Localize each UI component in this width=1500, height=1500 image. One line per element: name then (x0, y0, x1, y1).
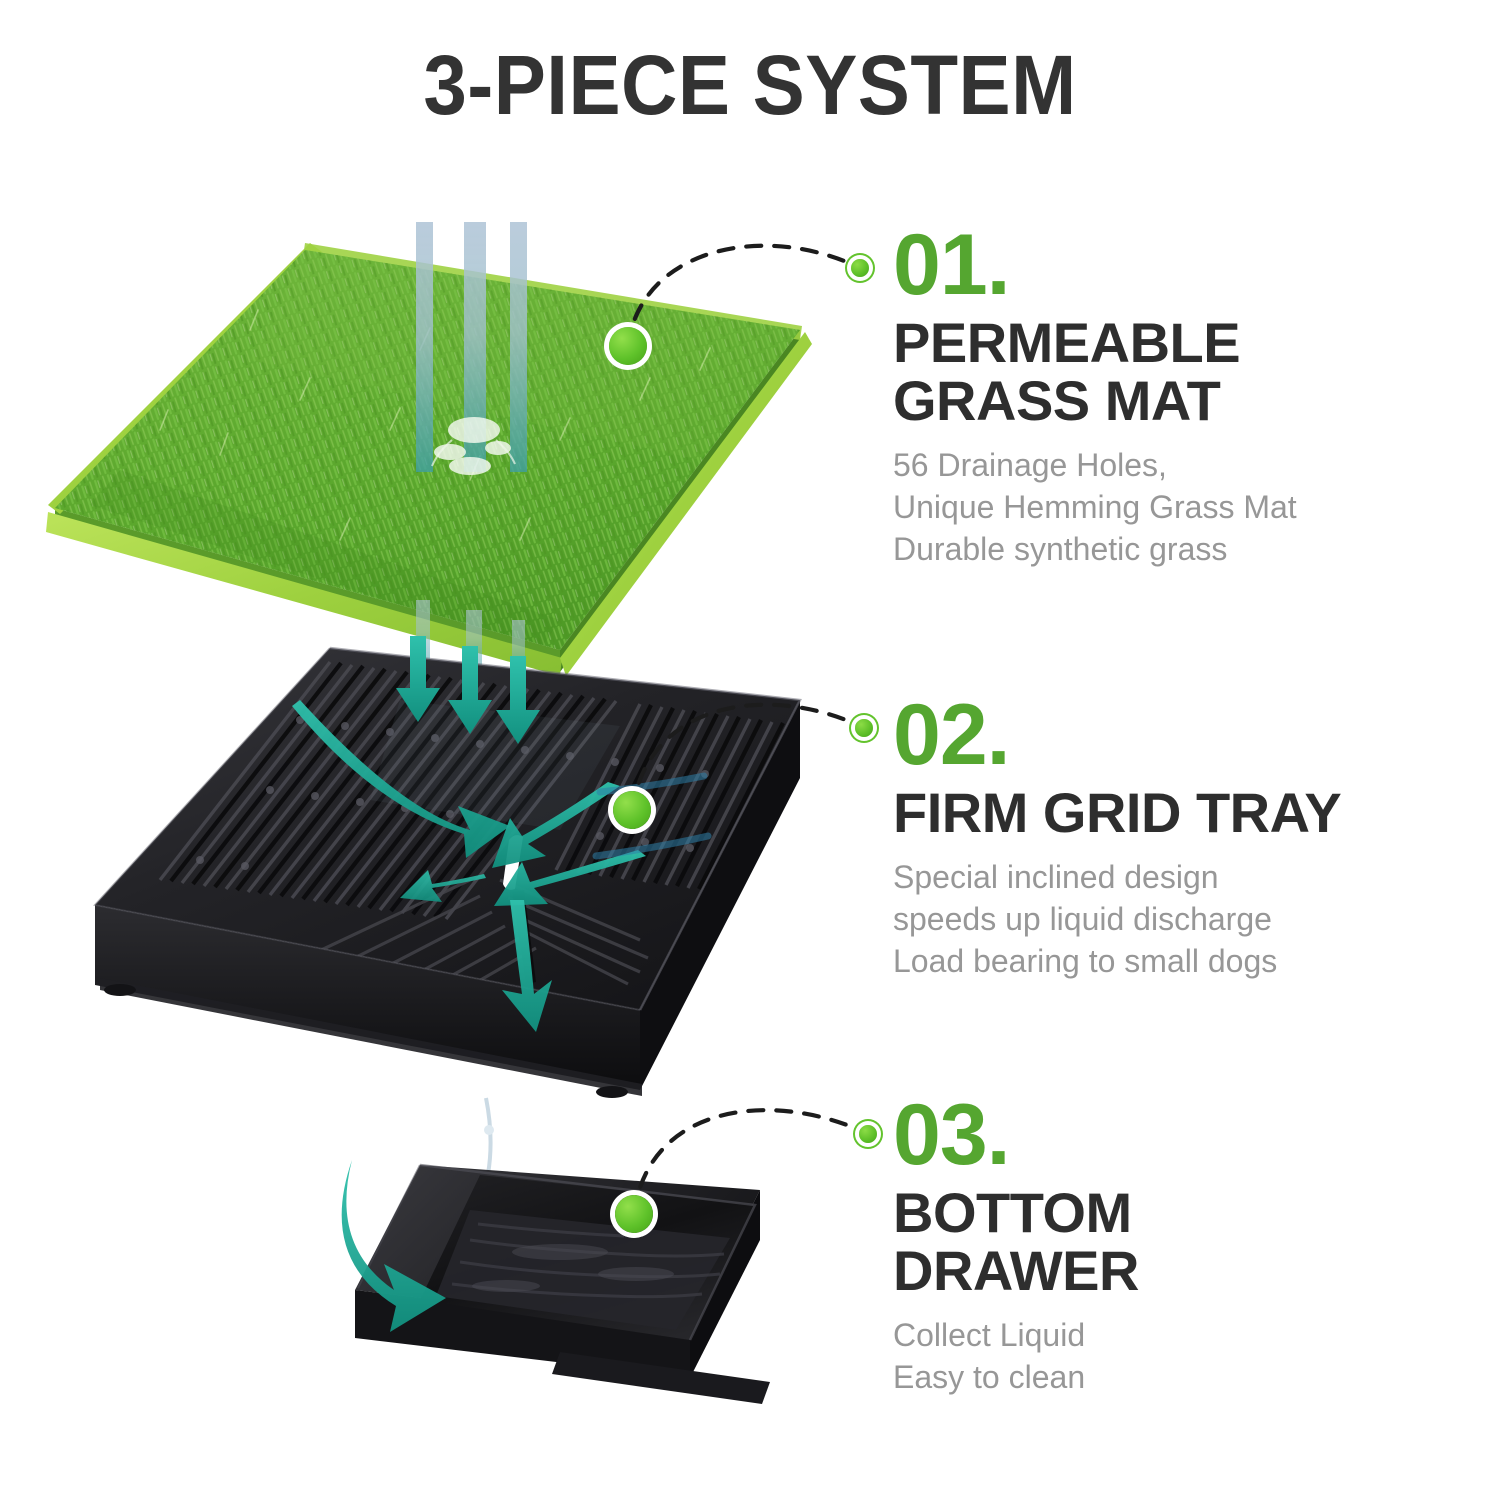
feature-desc-03-line1: Collect Liquid (893, 1314, 1468, 1356)
feature-description-03: Collect Liquid Easy to clean (893, 1314, 1468, 1398)
feature-number-02: 02. (893, 692, 1468, 778)
feature-block-02: 02. FIRM GRID TRAY Special inclined desi… (893, 692, 1468, 982)
feature-description-01: 56 Drainage Holes, Unique Hemming Grass … (893, 444, 1468, 570)
feature-block-03: 03. BOTTOM DRAWER Collect Liquid Easy to… (893, 1092, 1468, 1398)
callout-dot-product-03 (615, 1195, 653, 1233)
bottom-drawer-group (355, 1165, 770, 1404)
feature-heading-01-line2: GRASS MAT (893, 372, 1468, 430)
feature-desc-03-line2: Easy to clean (893, 1356, 1468, 1398)
leader-lines (628, 246, 864, 1214)
feature-desc-02-line2: speeds up liquid discharge (893, 898, 1468, 940)
feature-desc-01-line2: Unique Hemming Grass Mat (893, 486, 1468, 528)
drip-stream (482, 1098, 497, 1238)
feature-heading-02: FIRM GRID TRAY (893, 784, 1468, 842)
flow-arrows (292, 636, 646, 1032)
feature-heading-01-line1: PERMEABLE (893, 314, 1468, 372)
callout-dot-label-02 (855, 719, 873, 737)
grass-mat-group (0, 200, 900, 720)
feature-number-01: 01. (893, 222, 1468, 308)
feature-heading-02-line1: FIRM GRID TRAY (893, 784, 1468, 842)
feature-description-02: Special inclined design speeds up liquid… (893, 856, 1468, 982)
leader-line-01 (628, 246, 856, 346)
feature-desc-02-line1: Special inclined design (893, 856, 1468, 898)
infographic-poster: 3-PIECE SYSTEM (0, 0, 1500, 1500)
callout-dot-product-01 (609, 327, 647, 365)
leader-line-03 (634, 1110, 864, 1214)
feature-heading-01: PERMEABLE GRASS MAT (893, 314, 1468, 430)
grid-tray-group (95, 648, 800, 1098)
feature-desc-01-line1: 56 Drainage Holes, (893, 444, 1468, 486)
callout-dot-product-02 (613, 791, 651, 829)
callout-dot-label-01 (851, 259, 869, 277)
callout-dot-label-03 (859, 1125, 877, 1143)
feature-number-03: 03. (893, 1092, 1468, 1178)
feature-heading-03-line1: BOTTOM (893, 1184, 1468, 1242)
feature-desc-02-line3: Load bearing to small dogs (893, 940, 1468, 982)
page-title: 3-PIECE SYSTEM (53, 38, 1448, 132)
leader-line-02 (632, 705, 860, 810)
feature-heading-03-line2: DRAWER (893, 1242, 1468, 1300)
drawer-flow-arrow (342, 1160, 446, 1332)
feature-desc-01-line3: Durable synthetic grass (893, 528, 1468, 570)
water-streams-through-mat (416, 222, 527, 674)
feature-heading-03: BOTTOM DRAWER (893, 1184, 1468, 1300)
feature-block-01: 01. PERMEABLE GRASS MAT 56 Drainage Hole… (893, 222, 1468, 570)
